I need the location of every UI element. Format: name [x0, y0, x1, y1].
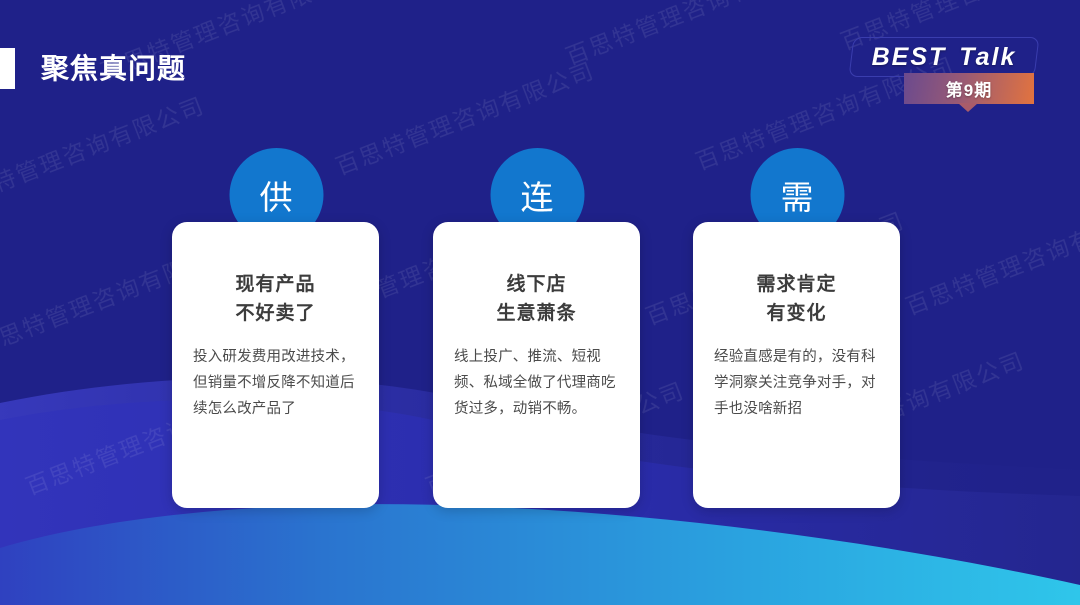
card-title-line2: 不好卖了: [193, 299, 358, 328]
card-title-line1: 需求肯定: [714, 270, 879, 299]
best-talk-logo: BEST Talk 第9期: [851, 37, 1037, 113]
logo-brand-text: BEST Talk: [851, 37, 1037, 77]
slide-header: 聚焦真问题 BEST Talk 第9期: [0, 0, 1080, 125]
card-group-supply: 供 现有产品 不好卖了 投入研发费用改进技术，但销量不增反降不知道后续怎么改产品…: [172, 148, 379, 508]
card-title-line1: 现有产品: [193, 270, 358, 299]
logo-brand-best: BEST: [872, 43, 947, 72]
slide-canvas: 百思特管理咨询有限公司百思特管理咨询有限公司百思特管理咨询有限公司百思特管理咨询…: [0, 0, 1080, 605]
issue-ribbon-notch: [958, 103, 978, 112]
card-supply[interactable]: 现有产品 不好卖了 投入研发费用改进技术，但销量不增反降不知道后续怎么改产品了: [172, 222, 379, 508]
title-marker: [0, 48, 15, 89]
issue-label: 第9期: [946, 76, 992, 101]
card-title-line2: 有变化: [714, 299, 879, 328]
card-title: 现有产品 不好卖了: [193, 270, 358, 328]
page-title: 聚焦真问题: [41, 48, 186, 89]
card-title-line1: 线下店: [454, 270, 619, 299]
logo-brand-talk: Talk: [959, 43, 1016, 72]
card-demand[interactable]: 需求肯定 有变化 经验直感是有的，没有科学洞察关注竞争对手，对手也没啥新招: [693, 222, 900, 508]
issue-ribbon: 第9期: [904, 73, 1034, 104]
card-group-connect: 连 线下店 生意萧条 线上投广、推流、短视频、私域全做了代理商吃货过多，动销不畅…: [433, 148, 640, 508]
card-title: 线下店 生意萧条: [454, 270, 619, 328]
card-group-demand: 需 需求肯定 有变化 经验直感是有的，没有科学洞察关注竞争对手，对手也没啥新招: [693, 148, 900, 508]
card-body: 线上投广、推流、短视频、私域全做了代理商吃货过多，动销不畅。: [454, 344, 619, 422]
card-body: 经验直感是有的，没有科学洞察关注竞争对手，对手也没啥新招: [714, 344, 879, 422]
card-title: 需求肯定 有变化: [714, 270, 879, 328]
card-title-line2: 生意萧条: [454, 299, 619, 328]
card-body: 投入研发费用改进技术，但销量不增反降不知道后续怎么改产品了: [193, 344, 358, 422]
card-connect[interactable]: 线下店 生意萧条 线上投广、推流、短视频、私域全做了代理商吃货过多，动销不畅。: [433, 222, 640, 508]
